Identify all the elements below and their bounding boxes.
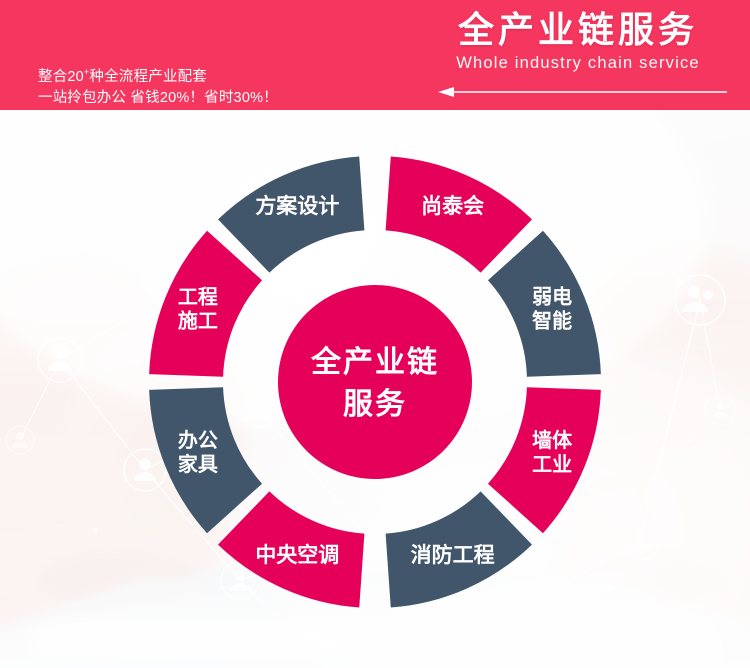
donut-segment-label-1: 尚泰会	[421, 194, 484, 218]
donut-segment-label-8: 方案设计	[255, 194, 339, 218]
donut-segment-label-6: 办公	[178, 428, 218, 452]
donut-segment-label-7: 工程	[178, 286, 218, 309]
donut-segment-label-6: 家具	[178, 452, 218, 476]
donut-segment-label-4: 消防工程	[411, 543, 495, 567]
center-label-line2: 服务	[343, 388, 407, 421]
donut-segment-label-3: 工业	[532, 453, 572, 476]
donut-center-circle	[278, 285, 472, 479]
value-chain-donut-chart: 尚泰会弱电智能墙体工业消防工程中央空调办公家具工程施工方案设计 全产业链 服务	[0, 0, 750, 668]
donut-segment-label-5: 中央空调	[255, 543, 339, 567]
donut-segment-label-2: 弱电	[532, 286, 572, 309]
donut-segment-label-2: 智能	[532, 309, 572, 333]
donut-segment-label-3: 墙体	[532, 428, 573, 452]
center-label-line1: 全产业链	[310, 345, 439, 379]
promo-banner: 整合20+种全流程产业配套 一站拎包办公 省钱20%！省时30%！ 全产业链服务…	[0, 0, 750, 668]
donut-segment-label-7: 施工	[178, 309, 218, 333]
